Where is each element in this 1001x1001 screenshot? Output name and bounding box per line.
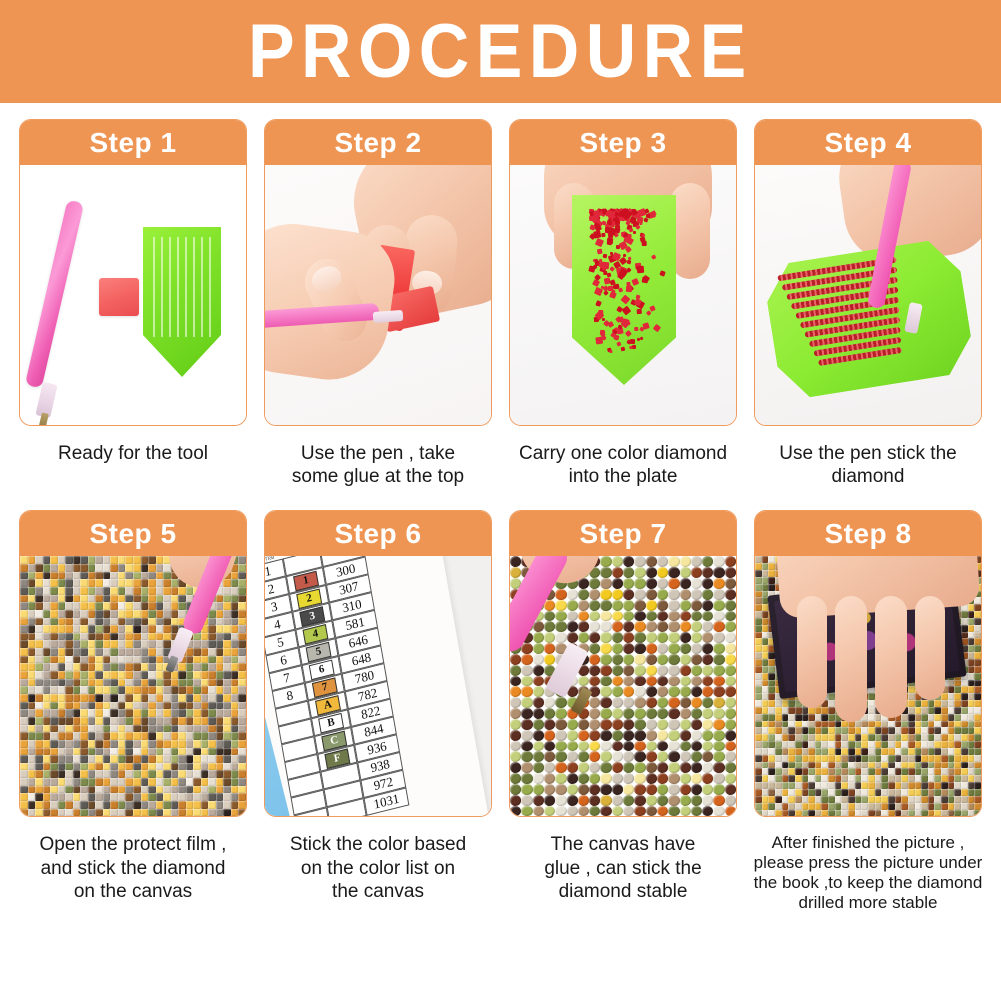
mosaic-bead xyxy=(223,587,231,595)
mosaic-bead xyxy=(223,793,231,801)
mosaic-bead xyxy=(934,782,941,789)
mosaic-bead xyxy=(178,694,186,702)
mosaic-bead xyxy=(915,775,922,782)
mosaic-bead xyxy=(28,686,36,694)
mosaic-bead xyxy=(141,702,149,710)
mosaic-bead xyxy=(948,734,955,741)
mosaic-bead xyxy=(589,719,600,730)
mosaic-bead xyxy=(178,770,186,778)
mosaic-bead xyxy=(133,709,141,717)
mosaic-bead xyxy=(755,597,762,604)
mosaic-bead xyxy=(954,680,961,687)
mosaic-bead xyxy=(691,751,702,762)
mosaic-bead xyxy=(788,810,795,817)
mosaic-bead xyxy=(80,625,88,633)
mosaic-bead xyxy=(968,618,975,625)
mosaic-bead xyxy=(50,763,58,771)
mosaic-bead xyxy=(133,755,141,763)
diamond-bead xyxy=(616,341,621,346)
mosaic-bead xyxy=(156,732,164,740)
mosaic-bead xyxy=(544,806,555,817)
mosaic-bead xyxy=(646,632,657,643)
mosaic-bead xyxy=(50,671,58,679)
mosaic-bead xyxy=(20,663,28,671)
mosaic-bead xyxy=(657,611,668,622)
mosaic-bead xyxy=(65,656,73,664)
mosaic-bead xyxy=(201,725,209,733)
mosaic-bead xyxy=(521,795,532,806)
mosaic-bead xyxy=(646,654,657,665)
mosaic-bead xyxy=(28,587,36,595)
mosaic-bead xyxy=(702,556,713,567)
mosaic-bead xyxy=(80,694,88,702)
mosaic-bead xyxy=(58,732,66,740)
mosaic-bead xyxy=(141,755,149,763)
mosaic-bead xyxy=(125,587,133,595)
mosaic-bead xyxy=(725,567,736,578)
mosaic-bead xyxy=(118,809,126,817)
mosaic-bead xyxy=(815,741,822,748)
mosaic-bead xyxy=(881,775,888,782)
mosaic-bead xyxy=(208,740,216,748)
mosaic-bead xyxy=(103,625,111,633)
mosaic-bead xyxy=(80,770,88,778)
mosaic-bead xyxy=(103,648,111,656)
mosaic-bead xyxy=(50,686,58,694)
mosaic-bead xyxy=(118,610,126,618)
mosaic-bead xyxy=(948,803,955,810)
mosaic-bead xyxy=(954,789,961,796)
mosaic-bead xyxy=(58,640,66,648)
mosaic-bead xyxy=(118,625,126,633)
mosaic-bead xyxy=(612,730,623,741)
mosaic-bead xyxy=(58,564,66,572)
mosaic-bead xyxy=(555,719,566,730)
mosaic-bead xyxy=(43,793,51,801)
mosaic-bead xyxy=(680,730,691,741)
mosaic-bead xyxy=(921,796,928,803)
mosaic-bead xyxy=(510,719,521,730)
mosaic-bead xyxy=(600,578,611,589)
mosaic-bead xyxy=(755,686,762,693)
mosaic-bead xyxy=(73,618,81,626)
mosaic-bead xyxy=(623,719,634,730)
mosaic-bead xyxy=(855,755,862,762)
mosaic-bead xyxy=(148,633,156,641)
mosaic-bead xyxy=(657,600,668,611)
mosaic-bead xyxy=(788,707,795,714)
mosaic-bead xyxy=(141,587,149,595)
mosaic-bead xyxy=(163,755,171,763)
mosaic-bead xyxy=(691,741,702,752)
mosaic-bead xyxy=(186,725,194,733)
mosaic-bead xyxy=(762,680,769,687)
mosaic-bead xyxy=(110,694,118,702)
mosaic-bead xyxy=(141,748,149,756)
mosaic-bead xyxy=(216,640,224,648)
mosaic-bead xyxy=(808,734,815,741)
mosaic-bead xyxy=(691,589,702,600)
mosaic-bead xyxy=(201,663,209,671)
mosaic-bead xyxy=(28,656,36,664)
mosaic-bead xyxy=(110,686,118,694)
mosaic-bead xyxy=(223,663,231,671)
mosaic-bead xyxy=(578,611,589,622)
mosaic-bead xyxy=(755,584,762,591)
mosaic-bead xyxy=(908,748,915,755)
mosaic-bead xyxy=(28,602,36,610)
mosaic-bead xyxy=(589,665,600,676)
mosaic-bead xyxy=(578,762,589,773)
mosaic-bead xyxy=(657,589,668,600)
mosaic-bead xyxy=(186,732,194,740)
mosaic-bead xyxy=(544,762,555,773)
mosaic-bead xyxy=(828,810,835,817)
mosaic-bead xyxy=(110,786,118,794)
mosaic-bead xyxy=(702,654,713,665)
mosaic-bead xyxy=(762,810,769,817)
mosaic-bead xyxy=(148,801,156,809)
mosaic-bead xyxy=(755,700,762,707)
mosaic-bead xyxy=(555,773,566,784)
mosaic-bead xyxy=(171,686,179,694)
mosaic-bead xyxy=(118,656,126,664)
mosaic-bead xyxy=(110,602,118,610)
mosaic-bead xyxy=(118,732,126,740)
mosaic-bead xyxy=(73,610,81,618)
mosaic-bead xyxy=(95,656,103,664)
mosaic-bead xyxy=(646,751,657,762)
mosaic-bead xyxy=(974,611,981,618)
mosaic-bead xyxy=(623,665,634,676)
mosaic-bead xyxy=(634,632,645,643)
mosaic-bead xyxy=(702,665,713,676)
mosaic-bead xyxy=(193,732,201,740)
mosaic-bead xyxy=(954,748,961,755)
mosaic-bead xyxy=(895,810,902,817)
mosaic-bead xyxy=(231,694,239,702)
mosaic-bead xyxy=(163,618,171,626)
mosaic-bead xyxy=(623,773,634,784)
mosaic-bead xyxy=(110,648,118,656)
mosaic-bead xyxy=(80,793,88,801)
mosaic-bead xyxy=(713,806,724,817)
mosaic-bead xyxy=(141,640,149,648)
glue-dipping-scene xyxy=(265,165,491,425)
mosaic-bead xyxy=(35,572,43,580)
mosaic-bead xyxy=(28,732,36,740)
mosaic-bead xyxy=(657,751,668,762)
mosaic-bead xyxy=(589,784,600,795)
mosaic-bead xyxy=(178,732,186,740)
mosaic-bead xyxy=(133,587,141,595)
mosaic-bead xyxy=(901,714,908,721)
mosaic-bead xyxy=(193,778,201,786)
mosaic-bead xyxy=(657,621,668,632)
diamond-bead xyxy=(642,241,647,246)
mosaic-bead xyxy=(908,755,915,762)
mosaic-bead xyxy=(762,638,769,645)
mosaic-bead xyxy=(623,708,634,719)
mosaic-bead xyxy=(589,578,600,589)
mosaic-bead xyxy=(921,707,928,714)
mosaic-bead xyxy=(680,784,691,795)
mosaic-bead xyxy=(961,632,968,639)
mosaic-bead xyxy=(156,778,164,786)
mosaic-bead xyxy=(841,768,848,775)
mosaic-bead xyxy=(510,556,521,567)
mosaic-bead xyxy=(544,632,555,643)
diamond-bead xyxy=(630,339,635,344)
mosaic-bead xyxy=(28,755,36,763)
mosaic-bead xyxy=(50,809,58,817)
mosaic-bead xyxy=(110,556,118,564)
mosaic-bead xyxy=(961,762,968,769)
mosaic-bead xyxy=(954,782,961,789)
mosaic-bead xyxy=(623,806,634,817)
mosaic-bead xyxy=(50,755,58,763)
mosaic-bead xyxy=(768,789,775,796)
mosaic-bead xyxy=(178,778,186,786)
mosaic-bead xyxy=(725,556,736,567)
mosaic-bead xyxy=(815,810,822,817)
mosaic-bead xyxy=(974,693,981,700)
mosaic-bead xyxy=(110,671,118,679)
mosaic-bead xyxy=(762,632,769,639)
mosaic-bead xyxy=(58,702,66,710)
mosaic-bead xyxy=(156,579,164,587)
mosaic-bead xyxy=(216,702,224,710)
mosaic-bead xyxy=(968,693,975,700)
mosaic-bead xyxy=(110,725,118,733)
mosaic-bead xyxy=(193,640,201,648)
mosaic-bead xyxy=(961,734,968,741)
mosaic-bead xyxy=(600,686,611,697)
mosaic-bead xyxy=(193,770,201,778)
mosaic-bead xyxy=(657,578,668,589)
mosaic-bead xyxy=(835,762,842,769)
mosaic-bead xyxy=(533,741,544,752)
mosaic-bead xyxy=(788,727,795,734)
mosaic-bead xyxy=(238,770,246,778)
mosaic-bead xyxy=(223,732,231,740)
mosaic-bead xyxy=(231,725,239,733)
mosaic-bead xyxy=(861,748,868,755)
mosaic-bead xyxy=(589,632,600,643)
mosaic-bead xyxy=(186,740,194,748)
mosaic-bead xyxy=(141,732,149,740)
mosaic-bead xyxy=(691,632,702,643)
mosaic-bead xyxy=(201,633,209,641)
mosaic-bead xyxy=(680,708,691,719)
mosaic-bead xyxy=(948,693,955,700)
mosaic-bead xyxy=(691,611,702,622)
mosaic-bead xyxy=(875,775,882,782)
mosaic-bead xyxy=(28,579,36,587)
mosaic-bead xyxy=(600,697,611,708)
mosaic-bead xyxy=(589,795,600,806)
mosaic-bead xyxy=(928,755,935,762)
mosaic-bead xyxy=(941,775,948,782)
mosaic-bead xyxy=(148,793,156,801)
mosaic-bead xyxy=(133,801,141,809)
mosaic-bead xyxy=(634,600,645,611)
mosaic-bead xyxy=(713,654,724,665)
mosaic-bead xyxy=(110,625,118,633)
mosaic-bead xyxy=(178,717,186,725)
mosaic-bead xyxy=(762,693,769,700)
mosaic-bead xyxy=(934,700,941,707)
mosaic-bead xyxy=(578,600,589,611)
step-6-header: Step 6 xyxy=(265,511,491,556)
mosaic-bead xyxy=(35,702,43,710)
mosaic-bead xyxy=(118,686,126,694)
mosaic-bead xyxy=(702,567,713,578)
mosaic-bead xyxy=(815,714,822,721)
mosaic-bead xyxy=(623,621,634,632)
mosaic-bead xyxy=(768,693,775,700)
mosaic-bead xyxy=(725,806,736,817)
red-diamonds-group xyxy=(580,209,668,361)
mosaic-bead xyxy=(163,572,171,580)
mosaic-bead xyxy=(835,721,842,728)
card-4: Step 4 xyxy=(754,119,982,426)
mosaic-bead xyxy=(668,632,679,643)
mosaic-bead xyxy=(80,725,88,733)
mosaic-bead xyxy=(216,809,224,817)
mosaic-bead xyxy=(646,806,657,817)
mosaic-bead xyxy=(73,587,81,595)
mosaic-bead xyxy=(238,740,246,748)
mosaic-bead xyxy=(118,770,126,778)
mosaic-bead xyxy=(208,786,216,794)
mosaic-bead xyxy=(725,665,736,676)
mosaic-bead xyxy=(141,610,149,618)
mosaic-bead xyxy=(768,686,775,693)
mosaic-bead xyxy=(88,633,96,641)
mosaic-bead xyxy=(828,803,835,810)
mosaic-bead xyxy=(567,806,578,817)
mosaic-bead xyxy=(861,741,868,748)
mosaic-bead xyxy=(50,702,58,710)
mosaic-bead xyxy=(802,727,809,734)
mosaic-bead xyxy=(713,643,724,654)
mosaic-bead xyxy=(103,709,111,717)
mosaic-bead xyxy=(868,789,875,796)
mosaic-bead xyxy=(20,763,28,771)
mosaic-bead xyxy=(231,618,239,626)
mosaic-bead xyxy=(762,789,769,796)
mosaic-bead xyxy=(216,656,224,664)
mosaic-bead xyxy=(110,801,118,809)
mosaic-bead xyxy=(186,702,194,710)
mosaic-bead xyxy=(110,633,118,641)
mosaic-bead xyxy=(668,708,679,719)
mosaic-bead xyxy=(901,768,908,775)
diamond-bead xyxy=(636,265,644,273)
mosaic-bead xyxy=(668,697,679,708)
mosaic-bead xyxy=(80,717,88,725)
mosaic-bead xyxy=(216,595,224,603)
mosaic-bead xyxy=(555,751,566,762)
mosaic-bead xyxy=(510,730,521,741)
mosaic-bead xyxy=(65,556,73,564)
mosaic-bead xyxy=(156,595,164,603)
mosaic-bead xyxy=(223,679,231,687)
mosaic-bead xyxy=(65,778,73,786)
mosaic-bead xyxy=(868,755,875,762)
mosaic-bead xyxy=(908,686,915,693)
mosaic-bead xyxy=(156,671,164,679)
mosaic-bead xyxy=(657,773,668,784)
mosaic-bead xyxy=(58,763,66,771)
mosaic-bead xyxy=(713,751,724,762)
mosaic-bead xyxy=(118,564,126,572)
mosaic-bead xyxy=(908,796,915,803)
mosaic-bead xyxy=(35,686,43,694)
mosaic-bead xyxy=(835,755,842,762)
mosaic-bead xyxy=(589,643,600,654)
mosaic-bead xyxy=(43,625,51,633)
mosaic-bead xyxy=(762,618,769,625)
mosaic-bead xyxy=(533,806,544,817)
mosaic-bead xyxy=(88,587,96,595)
mosaic-bead xyxy=(634,665,645,676)
mosaic-bead xyxy=(691,708,702,719)
mosaic-bead xyxy=(65,610,73,618)
mosaic-bead xyxy=(95,801,103,809)
diamond-bead xyxy=(602,318,605,321)
mosaic-bead xyxy=(148,556,156,564)
diamond-bead xyxy=(641,233,645,237)
mosaic-bead xyxy=(141,648,149,656)
mosaic-bead xyxy=(510,806,521,817)
mosaic-bead xyxy=(961,700,968,707)
mosaic-bead xyxy=(855,762,862,769)
mosaic-bead xyxy=(141,809,149,817)
mosaic-bead xyxy=(118,748,126,756)
mosaic-bead xyxy=(725,795,736,806)
mosaic-bead xyxy=(148,732,156,740)
mosaic-bead xyxy=(974,666,981,673)
mosaic-bead xyxy=(974,604,981,611)
mosaic-bead xyxy=(762,556,769,563)
mosaic-bead xyxy=(231,602,239,610)
mosaic-bead xyxy=(50,587,58,595)
mosaic-bead xyxy=(88,740,96,748)
mosaic-bead xyxy=(58,587,66,595)
mosaic-bead xyxy=(110,709,118,717)
mosaic-bead xyxy=(125,717,133,725)
mosaic-bead xyxy=(35,648,43,656)
mosaic-bead xyxy=(533,730,544,741)
mosaic-bead xyxy=(238,793,246,801)
mosaic-bead xyxy=(855,734,862,741)
mosaic-bead xyxy=(775,796,782,803)
mosaic-bead xyxy=(908,789,915,796)
mosaic-bead xyxy=(861,762,868,769)
mosaic-bead xyxy=(567,611,578,622)
mosaic-bead xyxy=(186,671,194,679)
mosaic-bead xyxy=(974,727,981,734)
mosaic-bead xyxy=(35,801,43,809)
mosaic-bead xyxy=(148,671,156,679)
diamond-bead xyxy=(639,222,643,226)
mosaic-bead xyxy=(768,768,775,775)
mosaic-bead xyxy=(156,648,164,656)
mosaic-bead xyxy=(680,676,691,687)
mosaic-bead xyxy=(103,770,111,778)
